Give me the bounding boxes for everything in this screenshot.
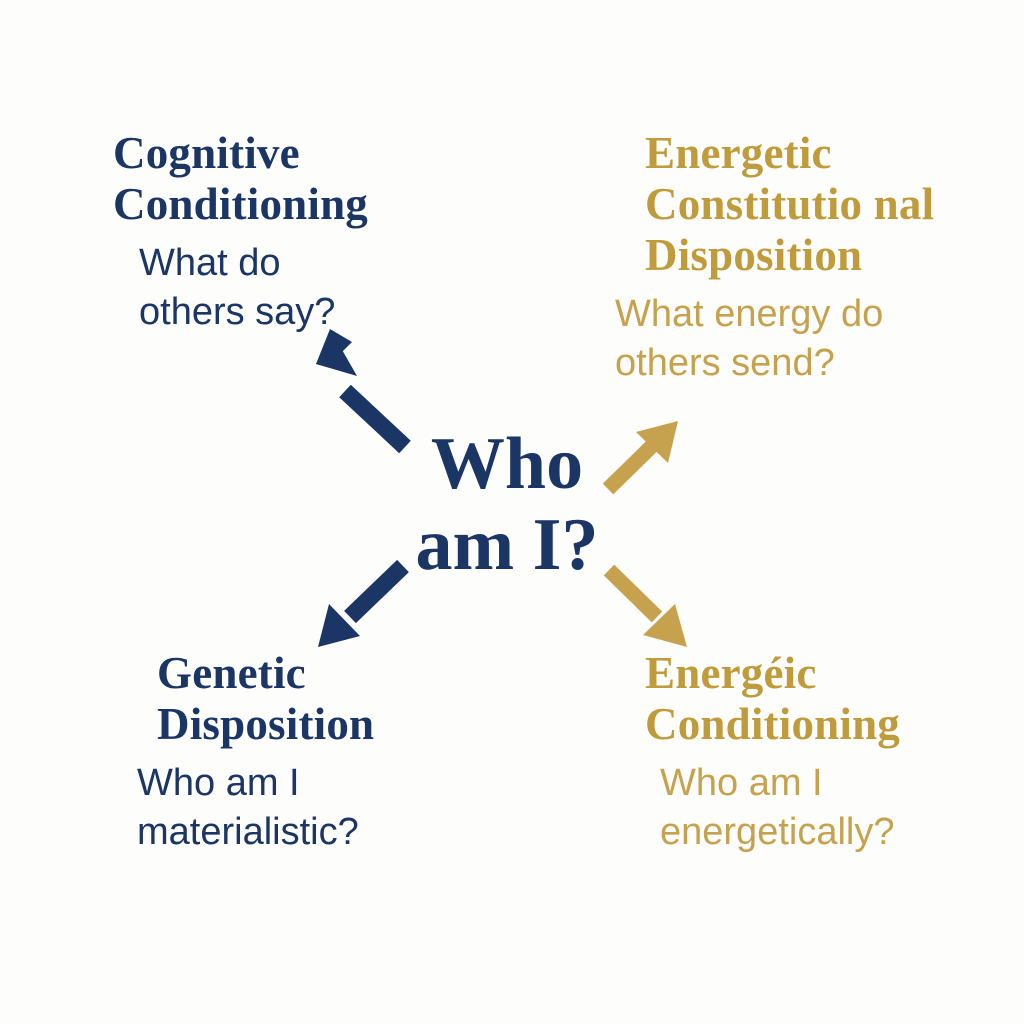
quadrant-cognitive-conditioning: Cognitive Conditioning What do others sa…: [113, 128, 443, 337]
arrow-to-genetic-disposition-icon: [318, 566, 403, 647]
quadrant-energetic-conditioning: Energéic Conditioning Who am I energetic…: [605, 648, 955, 857]
quadrant-energetic-constitutional-disposition: Energetic Constitutio nal Disposition Wh…: [615, 128, 965, 388]
quadrant-heading-energetic-conditioning: Energéic Conditioning: [605, 648, 955, 750]
quadrant-genetic-disposition: Genetic Disposition Who am I materialist…: [52, 648, 402, 857]
diagram-canvas: Cognitive Conditioning What do others sa…: [0, 0, 1024, 1024]
quadrant-subtitle-energetic-conditioning: Who am I energetically?: [605, 759, 955, 858]
quadrant-subtitle-genetic-disposition: Who am I materialistic?: [52, 759, 402, 858]
quadrant-heading-energetic-constitutional-disposition: Energetic Constitutio nal Disposition: [615, 128, 965, 281]
quadrant-subtitle-energetic-constitutional-disposition: What energy do others send?: [615, 290, 965, 389]
quadrant-subtitle-cognitive-conditioning: What do others say?: [113, 239, 443, 338]
quadrant-heading-cognitive-conditioning: Cognitive Conditioning: [113, 128, 443, 230]
quadrant-heading-genetic-disposition: Genetic Disposition: [52, 648, 402, 750]
center-question: Who am I?: [392, 424, 622, 587]
